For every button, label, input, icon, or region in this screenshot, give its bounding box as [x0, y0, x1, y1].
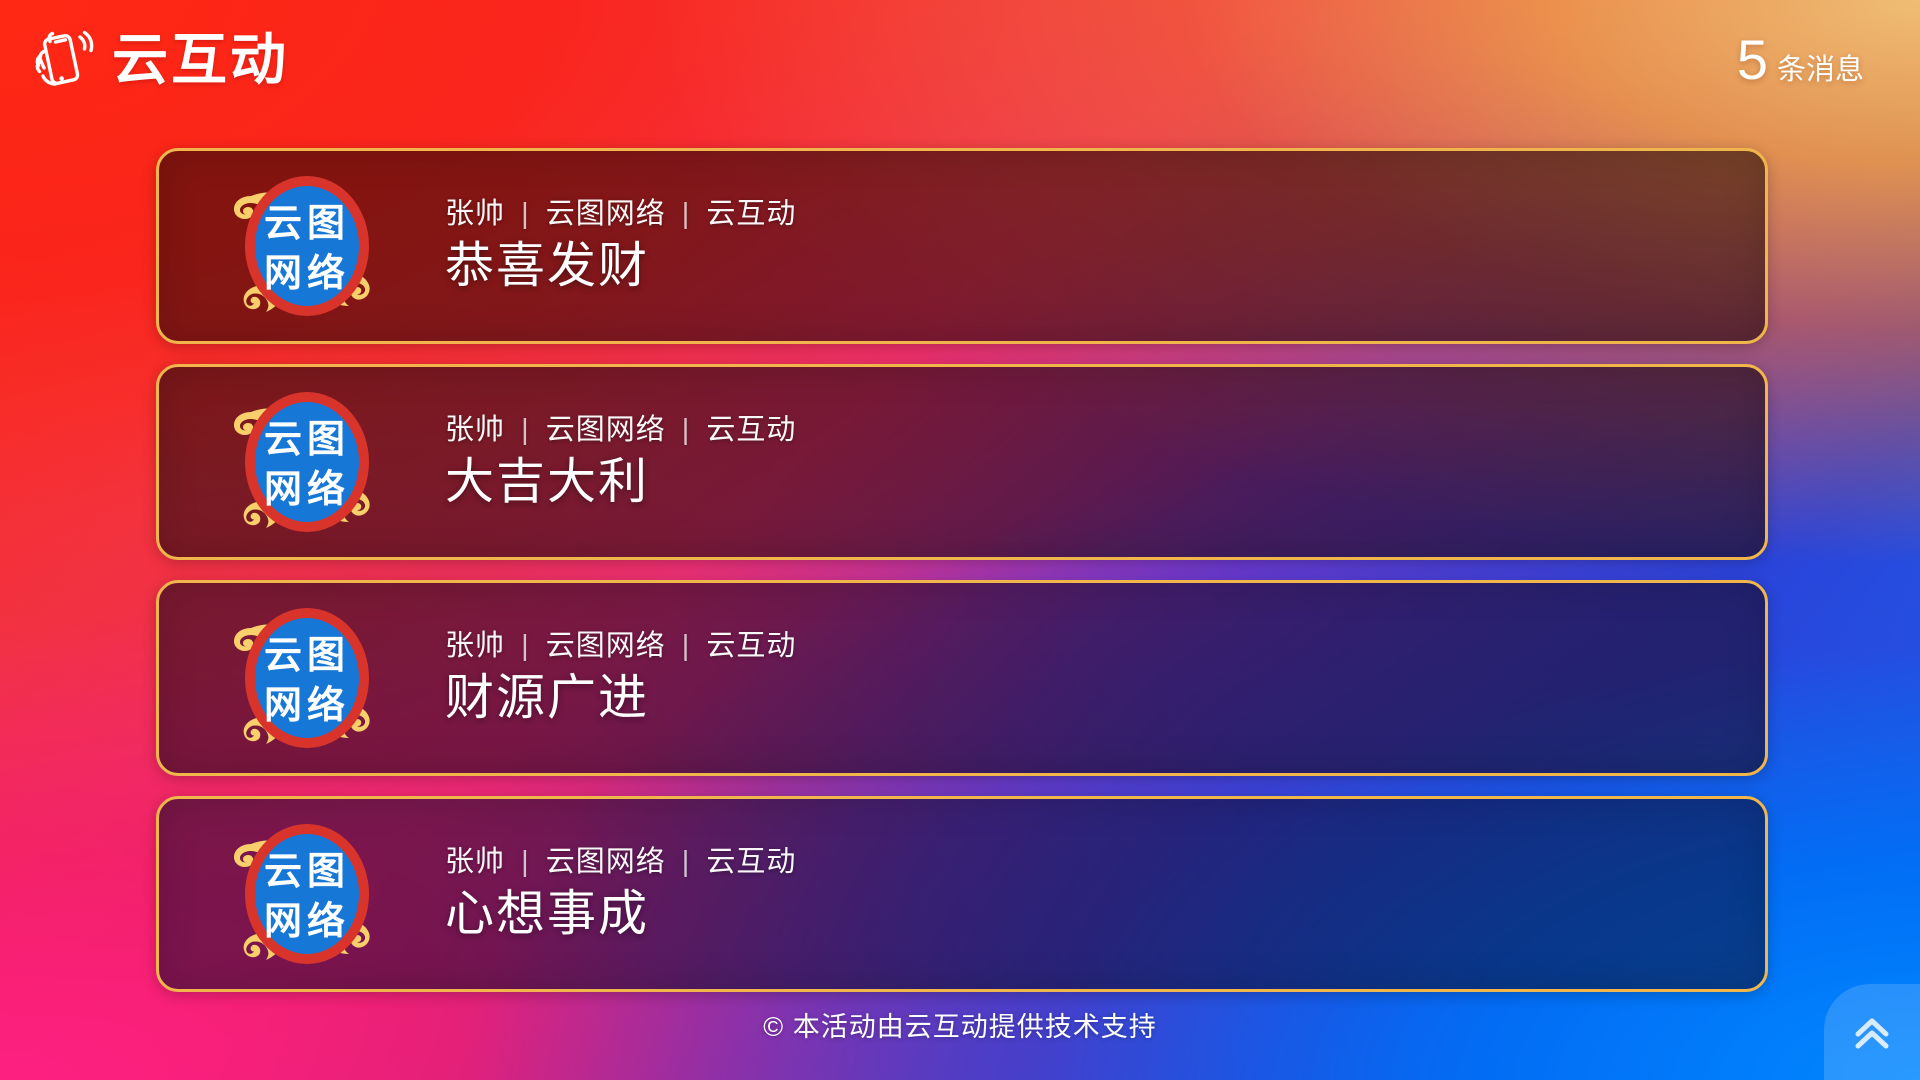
card-separator: |: [521, 198, 530, 230]
app-header: 云互动 5 条消息: [0, 0, 1920, 120]
card-separator: |: [682, 846, 691, 878]
card-separator: |: [521, 414, 530, 446]
card-message: 心想事成: [445, 888, 796, 942]
card-meta: 张帅 | 云图网络 | 云互动: [445, 415, 796, 447]
card-channel: 云互动: [706, 846, 796, 878]
card-separator: |: [521, 630, 530, 662]
card-sender: 张帅: [445, 198, 505, 230]
card-body: 张帅 | 云图网络 | 云互动 大吉大利: [445, 415, 796, 510]
avatar-text-line2: 网络: [264, 900, 350, 943]
card-body: 张帅 | 云图网络 | 云互动 恭喜发财: [445, 199, 796, 294]
card-sender: 张帅: [445, 630, 505, 662]
card-channel: 云互动: [706, 198, 796, 230]
card-channel: 云互动: [706, 630, 796, 662]
card-separator: |: [682, 414, 691, 446]
card-body: 张帅 | 云图网络 | 云互动 心想事成: [445, 847, 796, 942]
cloud-ring-avatar-icon: 云图 网络: [191, 806, 423, 982]
avatar-text-line1: 云图: [264, 419, 350, 461]
brand-logo[interactable]: 云互动: [28, 23, 289, 97]
card-sender: 张帅: [445, 846, 505, 878]
avatar: 云图 网络: [191, 590, 423, 766]
avatar-text-line2: 网络: [264, 468, 350, 511]
card-separator: |: [682, 630, 691, 662]
avatar-text-line1: 云图: [264, 851, 350, 893]
avatar: 云图 网络: [191, 806, 423, 982]
card-org: 云图网络: [546, 630, 666, 662]
card-message: 恭喜发财: [445, 240, 796, 294]
message-list: 云图 网络 张帅 | 云图网络 | 云互动 恭喜发财: [156, 148, 1768, 1012]
card-org: 云图网络: [546, 414, 666, 446]
avatar: 云图 网络: [191, 374, 423, 550]
avatar-text-line1: 云图: [264, 203, 350, 245]
footer-credit: © 本活动由云互动提供技术支持: [0, 1005, 1920, 1044]
card-org: 云图网络: [546, 198, 666, 230]
card-meta: 张帅 | 云图网络 | 云互动: [445, 631, 796, 663]
card-org: 云图网络: [546, 846, 666, 878]
app-root: 云互动 5 条消息 云图 网络: [0, 0, 1920, 1080]
brand-title: 云互动: [112, 32, 289, 88]
message-card[interactable]: 云图 网络 张帅 | 云图网络 | 云互动 大吉大利: [156, 364, 1768, 560]
card-meta: 张帅 | 云图网络 | 云互动: [445, 847, 796, 879]
avatar-text-line1: 云图: [264, 635, 350, 677]
message-count: 5 条消息: [1737, 32, 1864, 88]
message-card[interactable]: 云图 网络 张帅 | 云图网络 | 云互动 心想事成: [156, 796, 1768, 992]
back-to-top-button[interactable]: [1824, 984, 1920, 1080]
card-sender: 张帅: [445, 414, 505, 446]
card-message: 财源广进: [445, 672, 796, 726]
avatar-text-line2: 网络: [264, 252, 350, 295]
cloud-ring-avatar-icon: 云图 网络: [191, 158, 423, 334]
message-count-number: 5: [1737, 32, 1768, 88]
avatar-text-line2: 网络: [264, 684, 350, 727]
hand-holding-phone-icon: [28, 23, 102, 97]
message-count-label: 条消息: [1777, 56, 1864, 85]
card-separator: |: [682, 198, 691, 230]
card-message: 大吉大利: [445, 456, 796, 510]
card-channel: 云互动: [706, 414, 796, 446]
cloud-ring-avatar-icon: 云图 网络: [191, 590, 423, 766]
message-card[interactable]: 云图 网络 张帅 | 云图网络 | 云互动 财源广进: [156, 580, 1768, 776]
avatar: 云图 网络: [191, 158, 423, 334]
message-card[interactable]: 云图 网络 张帅 | 云图网络 | 云互动 恭喜发财: [156, 148, 1768, 344]
card-meta: 张帅 | 云图网络 | 云互动: [445, 199, 796, 231]
cloud-ring-avatar-icon: 云图 网络: [191, 374, 423, 550]
card-body: 张帅 | 云图网络 | 云互动 财源广进: [445, 631, 796, 726]
card-separator: |: [521, 846, 530, 878]
double-chevron-up-icon: [1846, 1006, 1898, 1058]
